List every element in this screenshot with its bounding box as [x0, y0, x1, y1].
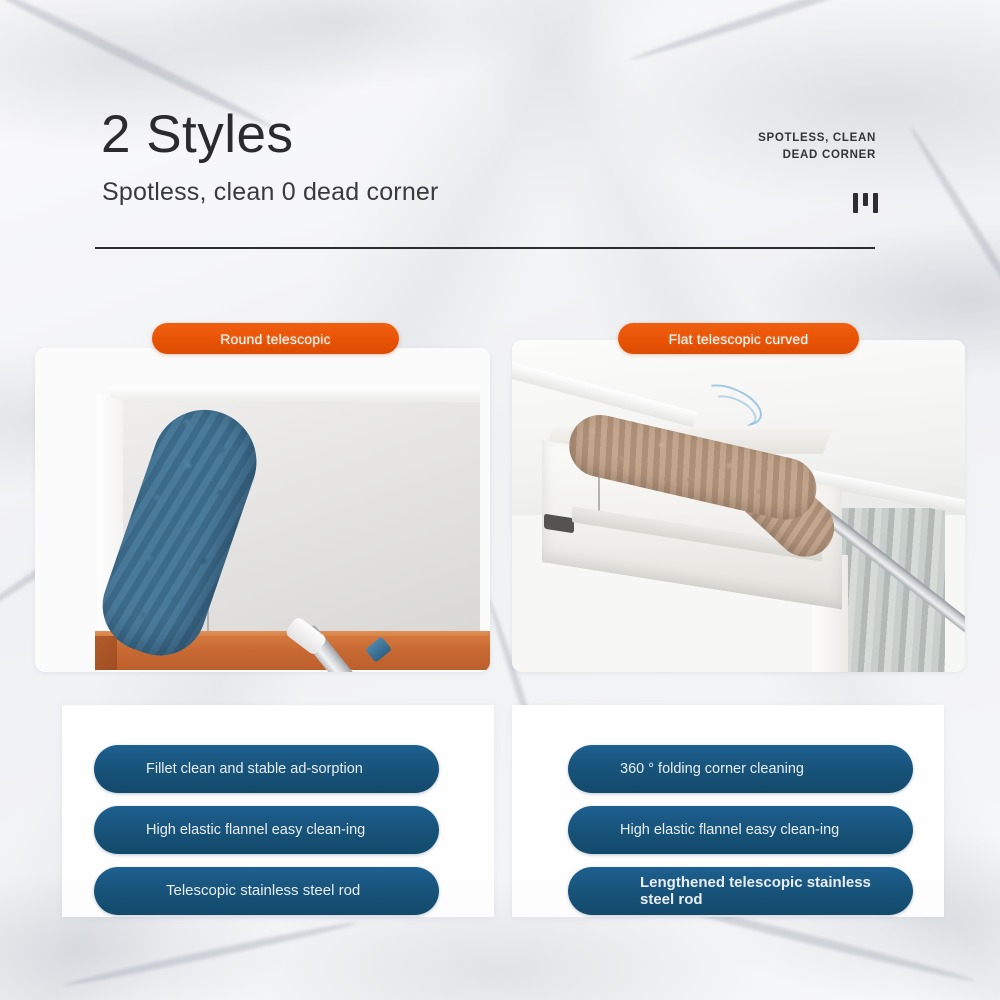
product-photo-flat-telescopic-curved: [512, 340, 965, 672]
feature-pill[interactable]: High elastic flannel easy clean-ing: [94, 806, 439, 854]
feature-card-round-telescopic: Fillet clean and stable ad-sorption High…: [62, 705, 494, 917]
header-divider: [95, 247, 875, 249]
feature-pill[interactable]: 360 ° folding corner cleaning: [568, 745, 913, 793]
page-subtitle: Spotless, clean 0 dead corner: [102, 178, 439, 207]
photo-scene-cabinet: [35, 348, 490, 672]
feature-pill[interactable]: Telescopic stainless steel rod: [94, 867, 439, 915]
feature-pill[interactable]: Fillet clean and stable ad-sorption: [94, 745, 439, 793]
quote-bar-right: [873, 193, 878, 213]
wood-shelf-end: [95, 636, 117, 670]
photo-scene-air-conditioner: [512, 340, 965, 672]
quote-bar-middle: [863, 193, 868, 206]
product-photo-round-telescopic: [35, 348, 490, 672]
quote-mark-icon: [853, 193, 878, 213]
badge-flat-telescopic-curved[interactable]: Flat telescopic curved: [618, 323, 859, 354]
feature-card-flat-telescopic-curved: 360 ° folding corner cleaning High elast…: [512, 705, 944, 917]
kicker-line-1: SPOTLESS, CLEAN: [758, 130, 876, 147]
page-title: 2 Styles: [101, 108, 294, 161]
quote-bar-left: [853, 193, 858, 213]
marble-vein: [629, 0, 1000, 64]
feature-pill[interactable]: Lengthened telescopic stainless steel ro…: [568, 867, 913, 915]
kicker-text: SPOTLESS, CLEAN DEAD CORNER: [758, 130, 876, 163]
badge-round-telescopic[interactable]: Round telescopic: [152, 323, 399, 354]
marble-vein: [62, 919, 357, 989]
cabinet-top-edge: [110, 386, 480, 402]
kicker-line-2: DEAD CORNER: [758, 147, 876, 164]
feature-pill[interactable]: High elastic flannel easy clean-ing: [568, 806, 913, 854]
